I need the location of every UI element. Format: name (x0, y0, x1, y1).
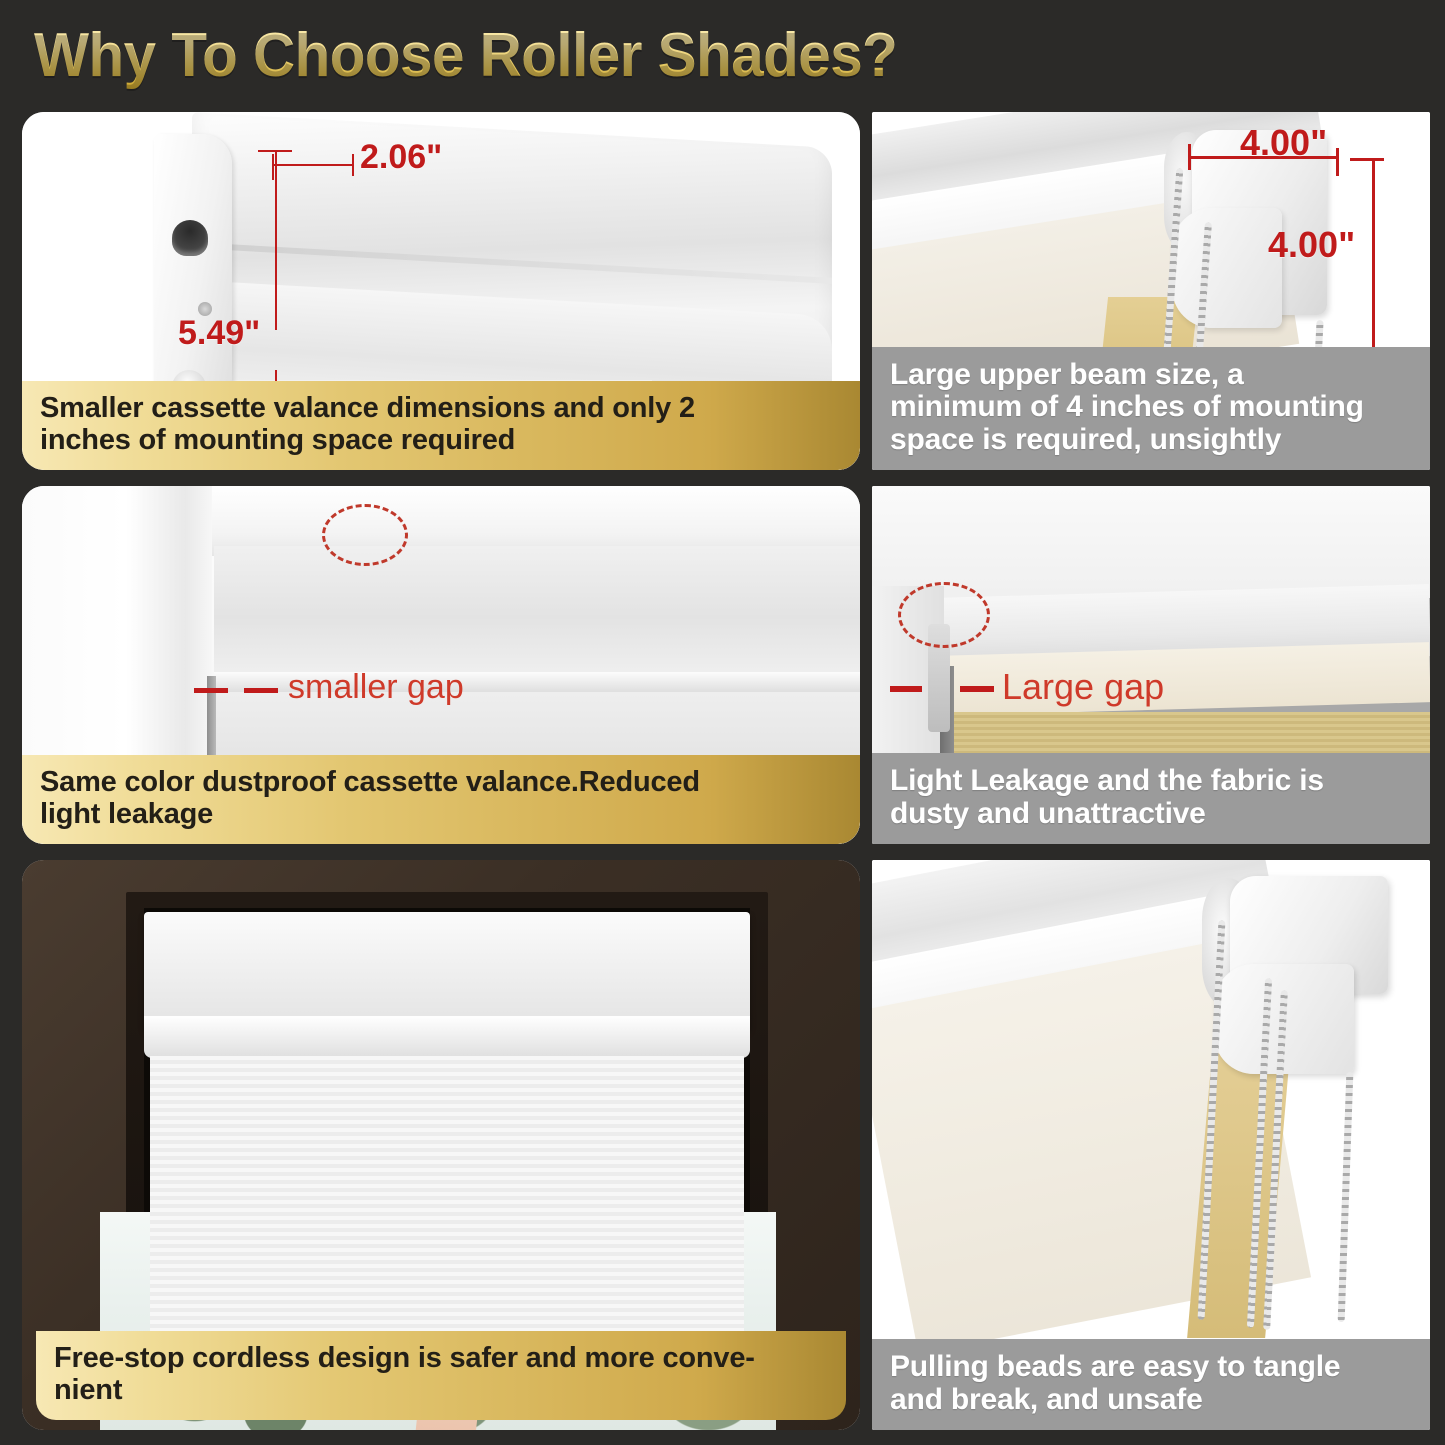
panel-1-caption: Smaller cassette valance dimensions and … (22, 381, 860, 470)
caption-line-2: inches of mounting space required (40, 425, 844, 456)
shade-fabric (150, 1056, 744, 1356)
caption-line-2: dusty and unattractive (890, 798, 1414, 830)
caption-line-1: Same color dustproof cassette valance.Re… (40, 767, 844, 798)
width-tick-left (272, 154, 274, 180)
height-tick-top (258, 150, 292, 152)
panel-smaller-cassette: 2.06" 5.49" Smaller cassette valance dim… (22, 112, 860, 470)
beam-height-tick-top (1350, 158, 1384, 161)
gap-callout-label: Large gap (1002, 666, 1164, 708)
caption-line-2: nient (54, 1375, 830, 1406)
height-dimension-label: 5.49" (178, 314, 260, 353)
shade-valance-lip (144, 1016, 750, 1058)
gap-arrow-left-shaft (194, 688, 228, 693)
gap-highlight-circle-icon (322, 504, 408, 566)
page-title: Why To Choose Roller Shades? (34, 20, 897, 91)
mounting-bracket-lower (1172, 208, 1282, 328)
caption-line-1: Smaller cassette valance dimensions and … (40, 393, 844, 424)
panel-cordless-design: Free-stop cordless design is safer and m… (22, 860, 860, 1430)
beam-width-label: 4.00" (1240, 122, 1327, 164)
panel-4-caption: Light Leakage and the fabric is dusty an… (872, 753, 1430, 844)
caption-line-1: Large upper beam size, a (890, 359, 1414, 391)
gap-arrow-left-shaft (890, 686, 922, 692)
beam-height-line (1372, 158, 1375, 354)
caption-line-3: space is required, unsightly (890, 424, 1414, 456)
caption-line-2: light leakage (40, 799, 844, 830)
gap-callout-label: smaller gap (288, 668, 464, 707)
caption-line-2: minimum of 4 inches of mounting (890, 391, 1414, 423)
width-dimension-line (272, 164, 354, 166)
caption-line-1: Pulling beads are easy to tangle (890, 1351, 1414, 1383)
beam-height-label: 4.00" (1268, 224, 1355, 266)
panel-smaller-gap: smaller gap Same color dustproof cassett… (22, 486, 860, 844)
gap-arrow-right-shaft (960, 686, 994, 692)
gap-arrow-right-shaft (244, 688, 278, 693)
gap-highlight-circle-icon (898, 582, 990, 648)
comparison-grid: 2.06" 5.49" Smaller cassette valance dim… (0, 104, 1445, 1445)
panel-2-caption: Large upper beam size, a minimum of 4 in… (872, 347, 1430, 470)
beam-width-tick-left (1188, 144, 1191, 170)
panel-light-leakage: Large gap Light Leakage and the fabric i… (872, 486, 1430, 844)
end-cap-slot (172, 220, 208, 256)
panel-large-beam: 4.00" 4.00" Large upper beam size, a min… (872, 112, 1430, 470)
width-dimension-label: 2.06" (360, 138, 442, 177)
caption-line-1: Free-stop cordless design is safer and m… (54, 1343, 830, 1374)
caption-line-1: Light Leakage and the fabric is (890, 765, 1414, 797)
panel-pulling-beads: Pulling beads are easy to tangle and bre… (872, 860, 1430, 1430)
panel-6-caption: Pulling beads are easy to tangle and bre… (872, 1339, 1430, 1430)
height-dimension-line-upper (275, 150, 277, 330)
panel-5-caption: Free-stop cordless design is safer and m… (36, 1331, 846, 1420)
shade-headrail (144, 912, 750, 1030)
panel-3-caption: Same color dustproof cassette valance.Re… (22, 755, 860, 844)
beam-width-tick-right (1336, 148, 1339, 176)
page-header: Why To Choose Roller Shades? (34, 16, 1034, 94)
caption-line-2: and break, and unsafe (890, 1384, 1414, 1416)
shade-upper-section (214, 546, 860, 676)
